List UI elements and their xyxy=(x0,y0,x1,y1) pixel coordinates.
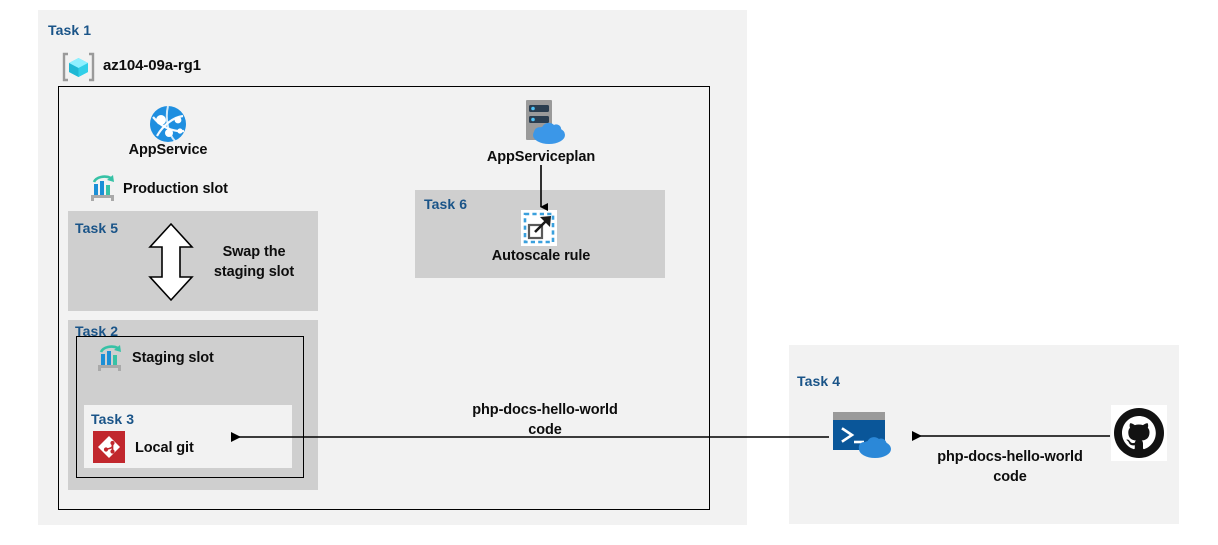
diagram-canvas: Task 1 az104-09a-rg1 AppService xyxy=(0,0,1218,545)
task6-label: Task 6 xyxy=(424,196,467,212)
task4-label: Task 4 xyxy=(797,373,840,389)
autoscale-rule-label: Autoscale rule xyxy=(460,248,622,264)
git-icon xyxy=(93,431,125,463)
task5-label: Task 5 xyxy=(75,220,118,236)
resource-group-icon xyxy=(61,51,96,83)
app-service-plan-icon xyxy=(512,98,570,146)
app-service-icon xyxy=(148,104,188,144)
resource-group-name: az104-09a-rg1 xyxy=(103,57,201,74)
staging-slot-label: Staging slot xyxy=(132,350,214,366)
center-arrow-label-line1: php-docs-hello-world xyxy=(472,402,617,418)
deployment-slot-icon-production xyxy=(88,174,118,202)
task4-arrow-label-line1: php-docs-hello-world xyxy=(937,449,1082,465)
swap-double-arrow-icon xyxy=(146,222,196,302)
deployment-slot-icon-staging xyxy=(95,344,125,372)
task4-arrow-label-line2: code xyxy=(993,469,1026,485)
task5-action-label: Swap the staging slot xyxy=(198,243,310,282)
task5-action-line2: staging slot xyxy=(214,264,294,280)
task4-arrow-label: php-docs-hello-world code xyxy=(925,448,1095,487)
cloud-shell-icon xyxy=(831,408,899,460)
autoscale-rule-icon xyxy=(521,210,557,246)
task5-action-line1: Swap the xyxy=(223,244,286,260)
github-icon xyxy=(1111,405,1167,461)
app-service-plan-label: AppServiceplan xyxy=(460,149,622,165)
app-service-label: AppService xyxy=(108,142,228,158)
task1-label: Task 1 xyxy=(48,22,91,38)
center-arrow-label-line2: code xyxy=(528,422,561,438)
task3-label: Task 3 xyxy=(91,411,134,427)
center-arrow-label: php-docs-hello-world code xyxy=(460,401,630,440)
production-slot-label: Production slot xyxy=(123,181,228,197)
local-git-label: Local git xyxy=(135,440,194,456)
